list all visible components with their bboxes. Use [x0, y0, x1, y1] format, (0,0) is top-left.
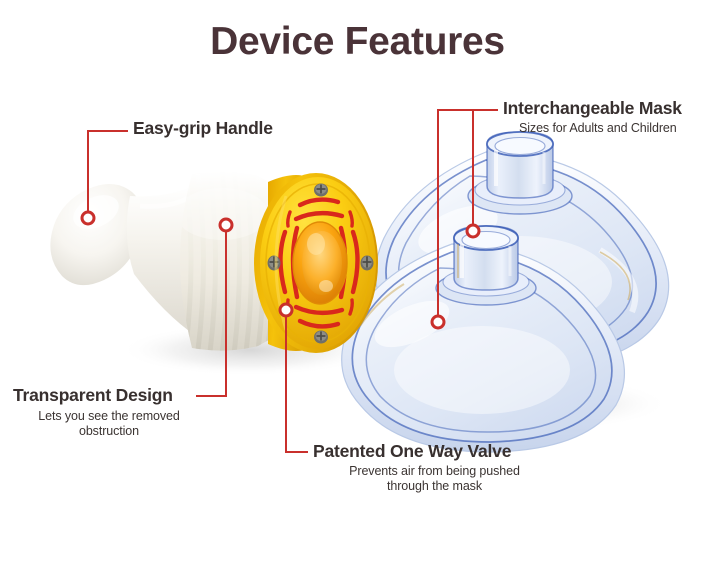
- callout-title-patented-valve: Patented One Way Valve: [313, 441, 511, 462]
- callout-subtitle-interchangeable-mask: Sizes for Adults and Children: [519, 121, 715, 136]
- callout-subtitle-transparent-design: Lets you see the removed obstruction: [19, 409, 199, 440]
- callout-title-interchangeable-mask: Interchangeable Mask: [503, 98, 682, 119]
- callout-subtitle-patented-valve: Prevents air from being pushed through t…: [327, 464, 542, 495]
- text-layer: Device Features Easy-grip Handle Interch…: [0, 0, 715, 563]
- infographic-canvas: Device Features Easy-grip Handle Interch…: [0, 0, 715, 563]
- page-title: Device Features: [0, 20, 715, 64]
- callout-title-easy-grip-handle: Easy-grip Handle: [133, 118, 273, 139]
- callout-title-transparent-design: Transparent Design: [13, 385, 173, 406]
